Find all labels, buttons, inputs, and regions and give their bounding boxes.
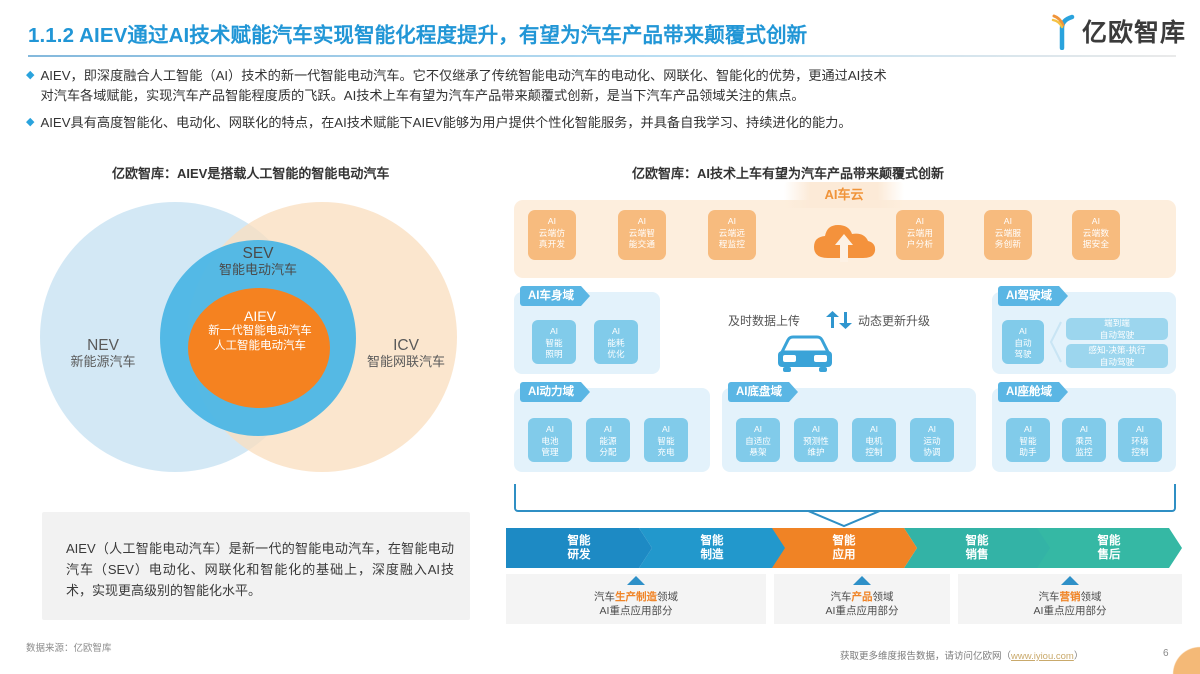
flow-stage-line2: 研发 xyxy=(568,548,591,562)
logo-text: 亿欧智库 xyxy=(1082,13,1186,49)
footer-note-post: ） xyxy=(1074,651,1084,662)
domain-title-body: AI车身域 xyxy=(520,286,590,306)
logo-mark-icon xyxy=(1048,12,1078,50)
application-caption: 汽车营销领域AI重点应用部分 xyxy=(958,574,1182,624)
footer-note: 获取更多维度报告数据，请访问亿欧网（www.iyiou.com） xyxy=(840,648,1083,662)
domain-panel-cabin: AI座舱域 AI 智能 助手 AI 乘员 监控 AI 环境 控制 xyxy=(992,388,1176,472)
domain-item: AI 能源 分配 xyxy=(586,418,630,462)
page-title: 1.1.2 AIEV通过AI技术赋能汽车实现智能化程度提升，有望为汽车产品带来颠… xyxy=(28,18,807,48)
cloud-layer-title: AI车云 xyxy=(784,182,904,208)
application-caption: 汽车生产制造领域AI重点应用部分 xyxy=(506,574,766,624)
caption-suffix: 领域 xyxy=(1081,591,1102,603)
flow-stage[interactable]: 智能销售 xyxy=(904,528,1050,568)
flow-stage-line1: 智能 xyxy=(568,534,591,548)
caption-line2: AI重点应用部分 xyxy=(958,604,1182,618)
definition-note-box: AIEV（人工智能电动汽车）是新一代的智能电动汽车，在智能电动汽车（SEV）电动… xyxy=(42,512,470,620)
venn-label-icv: ICV 智能网联汽车 xyxy=(342,338,470,370)
venn-diagram: NEV 新能源汽车 ICV 智能网联汽车 SEV 智能电动汽车 AIEV 新一代… xyxy=(22,188,492,488)
caption-line1: 汽车产品领域 xyxy=(774,590,950,604)
domain-title-cabin: AI座舱域 xyxy=(998,382,1068,402)
domain-panel-chassis: AI底盘域 AI 自适应 悬架 AI 预测性 维护 AI 电机 控制 AI 运动… xyxy=(722,388,976,472)
domain-item: AI 自适应 悬架 xyxy=(736,418,780,462)
left-panel-caption: 亿欧智库：AIEV是搭载人工智能的智能电动汽车 xyxy=(112,163,389,182)
venn-label-aiev-en: AIEV xyxy=(174,308,346,324)
cloud-service-box: AI 云端数 据安全 xyxy=(1072,210,1120,260)
bullet-line: AIEV，即深度融合人工智能（AI）技术的新一代智能电动汽车。它不仅继承了传统智… xyxy=(40,66,886,86)
bracket-chevron-icon xyxy=(806,510,882,528)
cloud-service-box: AI 云端用 户分析 xyxy=(896,210,944,260)
car-icon xyxy=(774,334,836,374)
domain-item: AI 电池 管理 xyxy=(528,418,572,462)
venn-label-aiev-cn2: 人工智能电动汽车 xyxy=(174,339,346,354)
bullet-line: 对汽车各域赋能，实现汽车产品智能程度质的飞跃。AI技术上车有望为汽车产品带来颠覆… xyxy=(40,86,886,106)
domain-subitem: 感知-决策-执行 自动驾驶 xyxy=(1066,344,1168,368)
bullet-list: ◆ AIEV，即深度融合人工智能（AI）技术的新一代智能电动汽车。它不仅继承了传… xyxy=(26,66,1178,140)
cloud-service-box: AI 云端仿 真开发 xyxy=(528,210,576,260)
domain-panel-body: AI车身域 AI 智能 照明 AI 能耗 优化 xyxy=(514,292,660,374)
corner-decoration xyxy=(1154,644,1200,674)
caption-line1: 汽车营销领域 xyxy=(958,590,1182,604)
caption-suffix: 领域 xyxy=(657,591,678,603)
caption-prefix: 汽车 xyxy=(594,591,615,603)
domain-panel-driving: AI驾驶域 AI 自动 驾驶 端到端 自动驾驶 感知-决策-执行 自动驾驶 xyxy=(992,292,1176,374)
application-caption-row: 汽车生产制造领域AI重点应用部分汽车产品领域AI重点应用部分汽车营销领域AI重点… xyxy=(506,574,1182,624)
summary-bracket xyxy=(514,484,1176,512)
data-source-label: 数据来源：亿欧智库 xyxy=(26,640,112,654)
caption-pointer-icon xyxy=(627,576,645,585)
iyiou-website-link[interactable]: www.iyiou.com xyxy=(1011,651,1074,662)
domain-panel-power: AI动力域 AI 电池 管理 AI 能源 分配 AI 智能 充电 xyxy=(514,388,710,472)
upload-label: 及时数据上传 xyxy=(728,312,800,329)
bullet-item: ◆ AIEV具有高度智能化、电动化、网联化的特点，在AI技术赋能下AIEV能够为… xyxy=(26,113,1178,133)
cloud-service-box: AI 云端远 程监控 xyxy=(708,210,756,260)
venn-label-sev-en: SEV xyxy=(182,246,334,262)
flow-stage-line2: 售后 xyxy=(1098,548,1121,562)
flow-stage-line1: 智能 xyxy=(833,534,856,548)
domain-subitem: 端到端 自动驾驶 xyxy=(1066,318,1168,340)
diamond-bullet-icon: ◆ xyxy=(26,113,34,133)
domain-item: AI 运动 协调 xyxy=(910,418,954,462)
domain-item: AI 环境 控制 xyxy=(1118,418,1162,462)
cloud-service-box: AI 云端智 能交通 xyxy=(618,210,666,260)
brand-logo: 亿欧智库 xyxy=(1048,12,1186,50)
venn-label-icv-en: ICV xyxy=(342,338,470,354)
caption-highlight: 产品 xyxy=(852,591,873,603)
title-divider xyxy=(28,55,1176,57)
flow-stage-line1: 智能 xyxy=(1098,534,1121,548)
venn-label-nev-en: NEV xyxy=(44,338,162,354)
venn-label-nev: NEV 新能源汽车 xyxy=(44,338,162,370)
diamond-bullet-icon: ◆ xyxy=(26,66,34,106)
sync-arrows-icon xyxy=(824,310,854,330)
caption-line2: AI重点应用部分 xyxy=(506,604,766,618)
domain-item: AI 智能 助手 xyxy=(1006,418,1050,462)
venn-label-nev-cn: 新能源汽车 xyxy=(44,354,162,370)
flow-stage-line1: 智能 xyxy=(966,534,989,548)
domain-title-power: AI动力域 xyxy=(520,382,590,402)
bullet-item: ◆ AIEV，即深度融合人工智能（AI）技术的新一代智能电动汽车。它不仅继承了传… xyxy=(26,66,1178,106)
cloud-service-box: AI 云端服 务创新 xyxy=(984,210,1032,260)
architecture-diagram: AI车云 AI 云端仿 真开发AI 云端智 能交通AI 云端远 程监控AI 云端… xyxy=(506,192,1182,522)
domain-item: AI 自动 驾驶 xyxy=(1002,320,1044,364)
flow-stage-line2: 应用 xyxy=(833,548,856,562)
domain-item: AI 智能 照明 xyxy=(532,320,576,364)
domain-title-driving: AI驾驶域 xyxy=(998,286,1068,306)
caption-suffix: 领域 xyxy=(873,591,894,603)
cloud-upload-icon xyxy=(808,218,880,264)
domain-item: AI 预测性 维护 xyxy=(794,418,838,462)
caption-prefix: 汽车 xyxy=(1039,591,1060,603)
bullet-line: AIEV具有高度智能化、电动化、网联化的特点，在AI技术赋能下AIEV能够为用户… xyxy=(40,113,851,133)
flow-stage[interactable]: 智能制造 xyxy=(639,528,785,568)
flow-stage-line2: 销售 xyxy=(966,548,989,562)
venn-label-aiev-cn1: 新一代智能电动汽车 xyxy=(174,324,346,339)
caption-line2: AI重点应用部分 xyxy=(774,604,950,618)
caption-pointer-icon xyxy=(1061,576,1079,585)
flow-stage-line1: 智能 xyxy=(701,534,724,548)
venn-label-aiev: AIEV 新一代智能电动汽车 人工智能电动汽车 xyxy=(174,308,346,354)
flow-stage-line2: 制造 xyxy=(701,548,724,562)
footer-note-pre: 获取更多维度报告数据，请访问亿欧网（ xyxy=(840,651,1011,662)
venn-label-sev-cn: 智能电动汽车 xyxy=(182,262,334,278)
flow-stage[interactable]: 智能售后 xyxy=(1036,528,1182,568)
definition-note-text: AIEV（人工智能电动汽车）是新一代的智能电动汽车，在智能电动汽车（SEV）电动… xyxy=(66,538,454,601)
caption-pointer-icon xyxy=(853,576,871,585)
right-panel-caption: 亿欧智库：AI技术上车有望为汽车产品带来颠覆式创新 xyxy=(632,163,944,182)
domain-title-chassis: AI底盘域 xyxy=(728,382,798,402)
update-label: 动态更新升级 xyxy=(858,312,930,329)
flow-stage[interactable]: 智能应用 xyxy=(771,528,917,568)
domain-item: AI 电机 控制 xyxy=(852,418,896,462)
domain-item: AI 乘员 监控 xyxy=(1062,418,1106,462)
branch-connector-icon xyxy=(1048,320,1062,364)
value-chain-flow: 智能研发智能制造智能应用智能销售智能售后 xyxy=(506,528,1182,568)
caption-line1: 汽车生产制造领域 xyxy=(506,590,766,604)
domain-item: AI 能耗 优化 xyxy=(594,320,638,364)
caption-highlight: 营销 xyxy=(1060,591,1081,603)
caption-prefix: 汽车 xyxy=(831,591,852,603)
slide-page: 1.1.2 AIEV通过AI技术赋能汽车实现智能化程度提升，有望为汽车产品带来颠… xyxy=(0,0,1200,674)
flow-stage[interactable]: 智能研发 xyxy=(506,528,652,568)
application-caption: 汽车产品领域AI重点应用部分 xyxy=(774,574,950,624)
domain-item: AI 智能 充电 xyxy=(644,418,688,462)
caption-highlight: 生产制造 xyxy=(615,591,657,603)
venn-label-icv-cn: 智能网联汽车 xyxy=(342,354,470,370)
venn-label-sev: SEV 智能电动汽车 xyxy=(182,246,334,278)
